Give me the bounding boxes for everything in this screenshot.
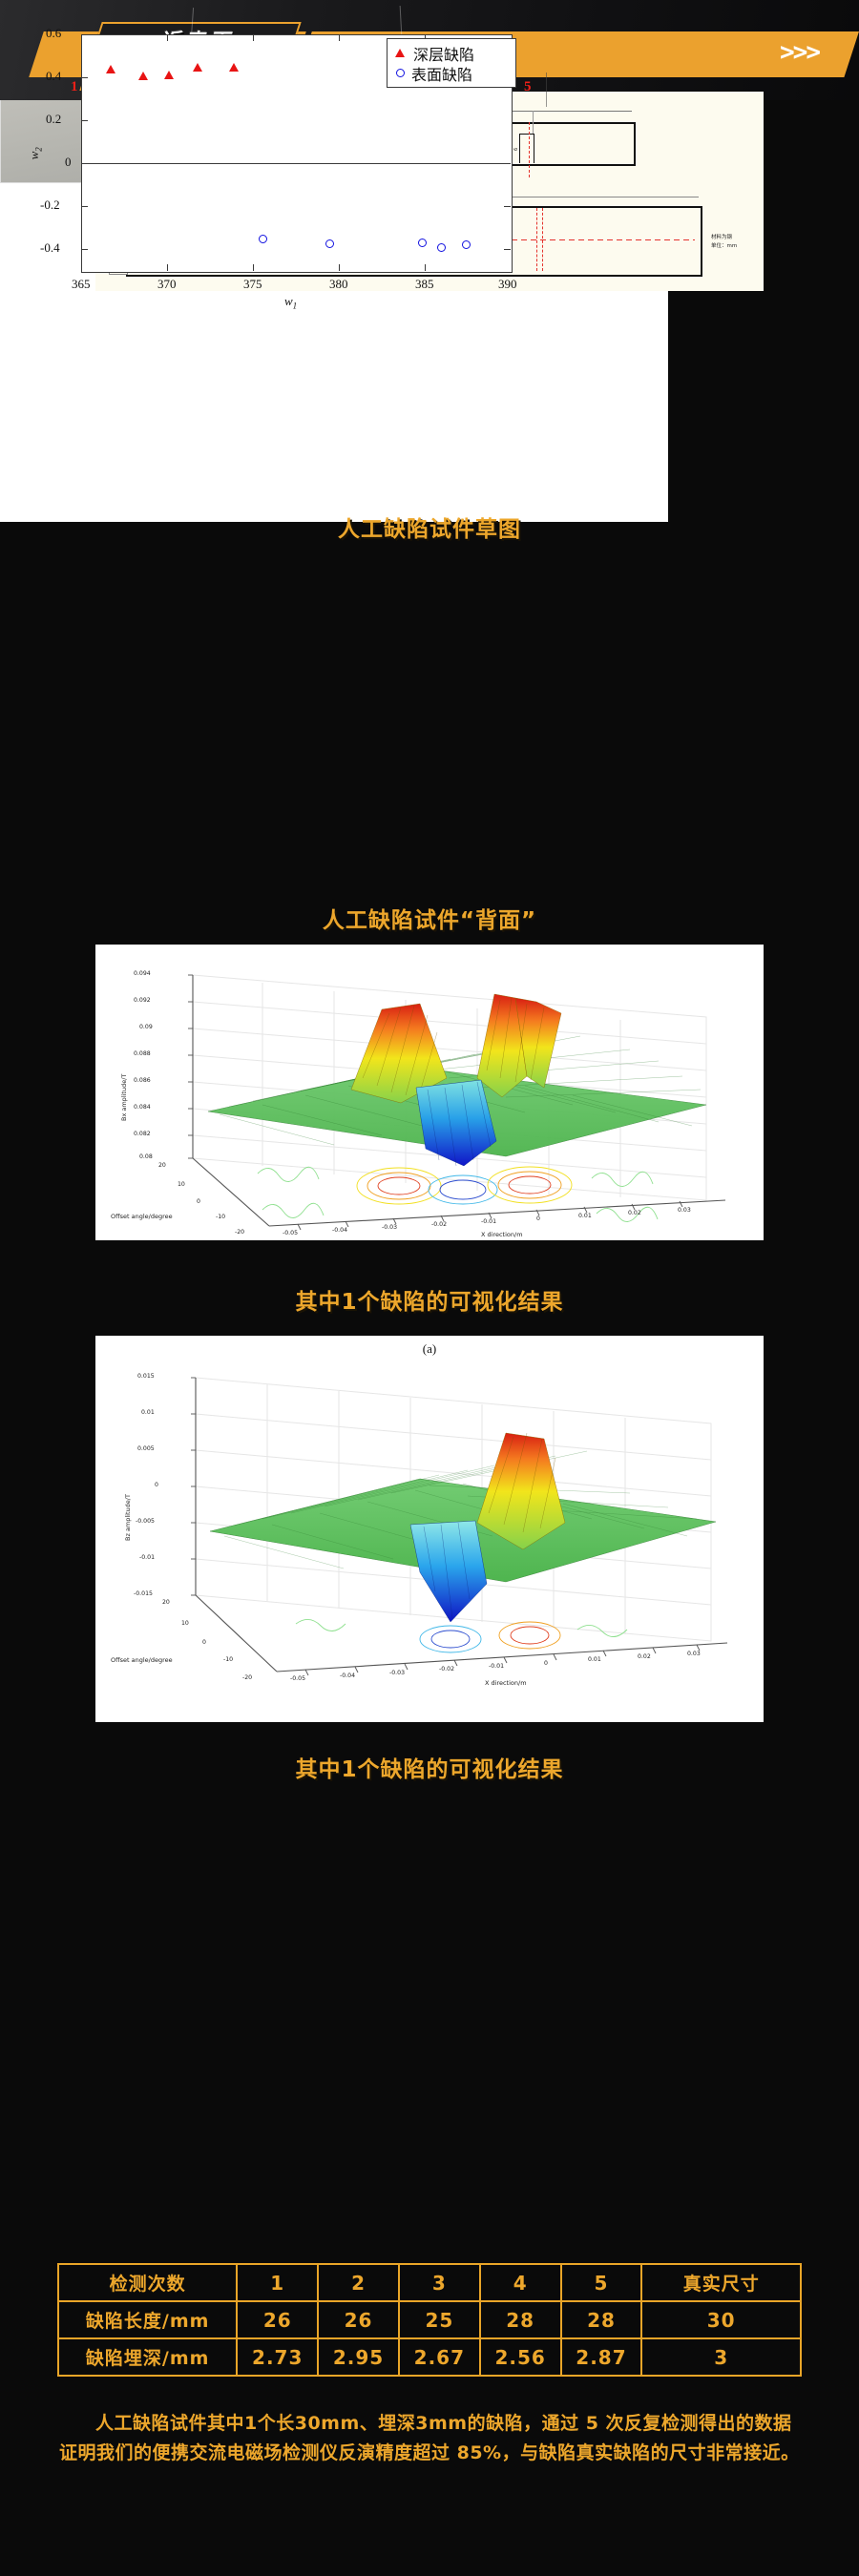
scatter-xtick-385: 385: [415, 277, 434, 292]
scatter-xtick-370: 370: [157, 277, 177, 292]
photo-defect-line-5: [546, 73, 547, 107]
photo-marker-5: 5: [524, 79, 532, 95]
bx-xtick-3: -0.02: [431, 1221, 447, 1228]
table-row: 缺陷埋深/mm 2.73 2.95 2.67 2.56 2.87 3: [58, 2338, 801, 2376]
table-row2-val3: 2.56: [480, 2338, 561, 2376]
scatter-xtickmark-t2: [253, 34, 254, 41]
scatter-ytick-neg0.4: -0.4: [40, 240, 60, 256]
scatter-point-surface-3: [418, 239, 427, 247]
bz-ztick-2: -0.005: [136, 1518, 155, 1525]
scatter-point-deep-3: [164, 71, 174, 79]
bz-xtick-2: -0.03: [389, 1670, 405, 1676]
scatter-ytick-0.4: 0.4: [46, 69, 61, 84]
scatter-ytick-0: 0: [65, 155, 72, 170]
bz-xtick-4: -0.01: [489, 1663, 504, 1670]
bz-ztick-1: -0.01: [139, 1554, 155, 1561]
bz-xtick-8: 0.03: [687, 1651, 701, 1657]
summary-paragraph: 人工缺陷试件其中1个长30mm、埋深3mm的缺陷，通过 5 次反复检测得出的数据…: [59, 2409, 804, 2469]
bz-ytick-0: -20: [242, 1674, 252, 1681]
scatter-xtickmark-1: [167, 264, 168, 271]
scatter-ytick-0.2: 0.2: [46, 112, 61, 127]
table-row1-last: 30: [641, 2301, 801, 2338]
table-row0-val2: 3: [399, 2264, 480, 2301]
bx-xtick-8: 0.03: [678, 1207, 691, 1214]
legend-triangle-icon: [395, 49, 405, 57]
bz-ztick-5: 0.01: [141, 1409, 155, 1416]
legend-item-deep: 深层缺陷: [395, 43, 508, 63]
scatter-point-surface-1: [259, 235, 267, 243]
scatter-xtickmark-t3: [339, 34, 340, 41]
caption-sketch: 人工缺陷试件草图: [0, 510, 859, 543]
bx-xtick-4: -0.01: [481, 1218, 496, 1225]
bz-ytick-1: -10: [223, 1656, 233, 1663]
sketch-centerline-4: [529, 122, 530, 177]
caption-plot-bz: 其中1个缺陷的可视化结果: [0, 1751, 859, 1783]
bx-yaxis-label: Offset angle/degree: [111, 1213, 173, 1220]
bx-ytick-1: -10: [216, 1214, 225, 1220]
bz-xaxis-label: X direction/m: [485, 1679, 527, 1687]
table-row1-val3: 28: [480, 2301, 561, 2338]
table-row0-val0: 1: [237, 2264, 318, 2301]
bx-xtick-5: 0: [536, 1215, 540, 1222]
table-row0-last: 真实尺寸: [641, 2264, 801, 2301]
table-row1-val4: 28: [561, 2301, 642, 2338]
table-row2-val0: 2.73: [237, 2338, 318, 2376]
scatter-zero-line: [81, 163, 511, 164]
bx-ztick-3: 0.086: [134, 1077, 151, 1084]
table-row2-last: 3: [641, 2338, 801, 2376]
scatter-point-surface-4: [437, 243, 446, 252]
bz-ztick-0: -0.015: [134, 1590, 153, 1597]
sketch-note-line1: 材料为钢: [711, 233, 732, 240]
bx-xtick-1: -0.04: [332, 1227, 347, 1234]
bz-xtick-7: 0.02: [638, 1653, 651, 1660]
chevrons-right-icon: >>>: [780, 38, 819, 67]
table-row0-label: 检测次数: [58, 2264, 237, 2301]
table-row1-val1: 26: [318, 2301, 399, 2338]
bx-surface-svg: [95, 945, 764, 1240]
scatter-xaxis-label: w1: [284, 294, 297, 311]
scatter-xtick-380: 380: [329, 277, 348, 292]
table-row1-val2: 25: [399, 2301, 480, 2338]
bz-ztick-6: 0.015: [137, 1373, 155, 1380]
bz-ztick-4: 0.005: [137, 1445, 155, 1452]
scatter-point-deep-5: [229, 63, 239, 72]
bz-ytick-4: 20: [162, 1599, 170, 1606]
scatter-ytickmark-4: [81, 206, 88, 207]
scatter-point-surface-2: [325, 239, 334, 248]
bx-xtick-0: -0.05: [283, 1230, 298, 1236]
bz-ztick-3: 0: [155, 1482, 158, 1488]
legend-label-surface: 表面缺陷: [411, 62, 472, 85]
scatter-legend: 深层缺陷 表面缺陷: [387, 38, 516, 88]
scatter-yaxis-label: w2: [27, 147, 44, 159]
bz-xtick-5: 0: [544, 1660, 548, 1667]
bx-xtick-2: -0.03: [382, 1224, 397, 1231]
scatter-ytickmark-1: [81, 77, 88, 78]
table-row1-val0: 26: [237, 2301, 318, 2338]
table-row: 检测次数 1 2 3 4 5 真实尺寸: [58, 2264, 801, 2301]
scatter-xtickmark-t1: [167, 34, 168, 41]
bz-xtick-1: -0.04: [340, 1672, 355, 1679]
bx-xtick-7: 0.02: [628, 1210, 641, 1216]
bz-ytick-2: 0: [202, 1639, 206, 1646]
sketch-notch-5: [519, 134, 534, 163]
scatter-xtick-375: 375: [243, 277, 262, 292]
sketch-note-line2: 单位：mm: [711, 241, 737, 249]
table-row0-val3: 4: [480, 2264, 561, 2301]
bz-ytick-3: 10: [181, 1620, 189, 1627]
bx-ztick-6: 0.092: [134, 997, 151, 1004]
scatter-xtick-390: 390: [498, 277, 517, 292]
bx-xaxis-label: X direction/m: [481, 1231, 523, 1238]
bx-ztick-0: 0.08: [139, 1153, 153, 1160]
bx-zaxis-label: Bx amplitude/T: [120, 1074, 128, 1121]
bx-ztick-5: 0.09: [139, 1024, 153, 1030]
bz-xtick-6: 0.01: [588, 1656, 601, 1663]
caption-photo: 人工缺陷试件“背面”: [0, 902, 859, 934]
caption-plot-bx: 其中1个缺陷的可视化结果: [0, 1283, 859, 1316]
scatter-ytick-neg0.2: -0.2: [40, 197, 60, 213]
table-row0-val4: 5: [561, 2264, 642, 2301]
bx-ztick-4: 0.088: [134, 1050, 151, 1057]
bx-surface-plot: Bx amplitude/T 0.094 0.092 0.09 0.088 0.…: [95, 945, 764, 1240]
scatter-xtickmark-3: [339, 264, 340, 271]
sketch-b-red-4b: [542, 208, 543, 271]
scatter-ytickmark-r4: [504, 206, 511, 207]
scatter-point-surface-5: [462, 240, 471, 249]
legend-item-surface: 表面缺陷: [395, 63, 508, 83]
sketch-notch-label-4: 6: [513, 148, 519, 151]
bx-xtick-6: 0.01: [578, 1213, 592, 1219]
table-row2-val2: 2.67: [399, 2338, 480, 2376]
bx-ztick-1: 0.082: [134, 1131, 151, 1137]
bz-xtick-0: -0.05: [290, 1675, 305, 1682]
bz-plot-title: (a): [95, 1341, 764, 1357]
sketch-b-red-4: [536, 208, 537, 271]
bz-zaxis-label: Bz amplitude/T: [124, 1494, 132, 1541]
table-row: 缺陷长度/mm 26 26 25 28 28 30: [58, 2301, 801, 2338]
scatter-point-deep-1: [106, 65, 115, 73]
table-row2-val1: 2.95: [318, 2338, 399, 2376]
bx-ztick-7: 0.094: [134, 970, 151, 977]
scatter-xtickmark-2: [253, 264, 254, 271]
scatter-xtickmark-4: [425, 264, 426, 271]
table-row2-val4: 2.87: [561, 2338, 642, 2376]
scatter-xtick-365: 365: [72, 277, 91, 292]
scatter-ytickmark-2: [81, 120, 88, 121]
bx-ytick-2: 0: [197, 1198, 200, 1205]
scatter-ytickmark-5: [81, 249, 88, 250]
scatter-ytickmark-r5: [504, 249, 511, 250]
bx-ytick-4: 20: [158, 1162, 166, 1169]
bx-ztick-2: 0.084: [134, 1104, 151, 1111]
bz-surface-plot: (a): [95, 1336, 764, 1722]
legend-circle-icon: [396, 69, 405, 77]
bz-surface-svg: [95, 1336, 764, 1722]
table-row1-label: 缺陷长度/mm: [58, 2301, 237, 2338]
bz-xtick-3: -0.02: [439, 1666, 454, 1672]
scatter-ytick-0.6: 0.6: [46, 26, 61, 41]
bz-yaxis-label: Offset angle/degree: [111, 1656, 173, 1664]
bx-ytick-0: -20: [235, 1229, 244, 1236]
table-row0-val1: 2: [318, 2264, 399, 2301]
bx-ytick-3: 10: [178, 1181, 185, 1188]
scatter-point-deep-2: [138, 72, 148, 80]
measurement-table: 检测次数 1 2 3 4 5 真实尺寸 缺陷长度/mm 26 26 25 28 …: [57, 2263, 802, 2377]
photo-marker-1: 1: [71, 79, 78, 95]
table-row2-label: 缺陷埋深/mm: [58, 2338, 237, 2376]
scatter-point-deep-4: [193, 63, 202, 72]
